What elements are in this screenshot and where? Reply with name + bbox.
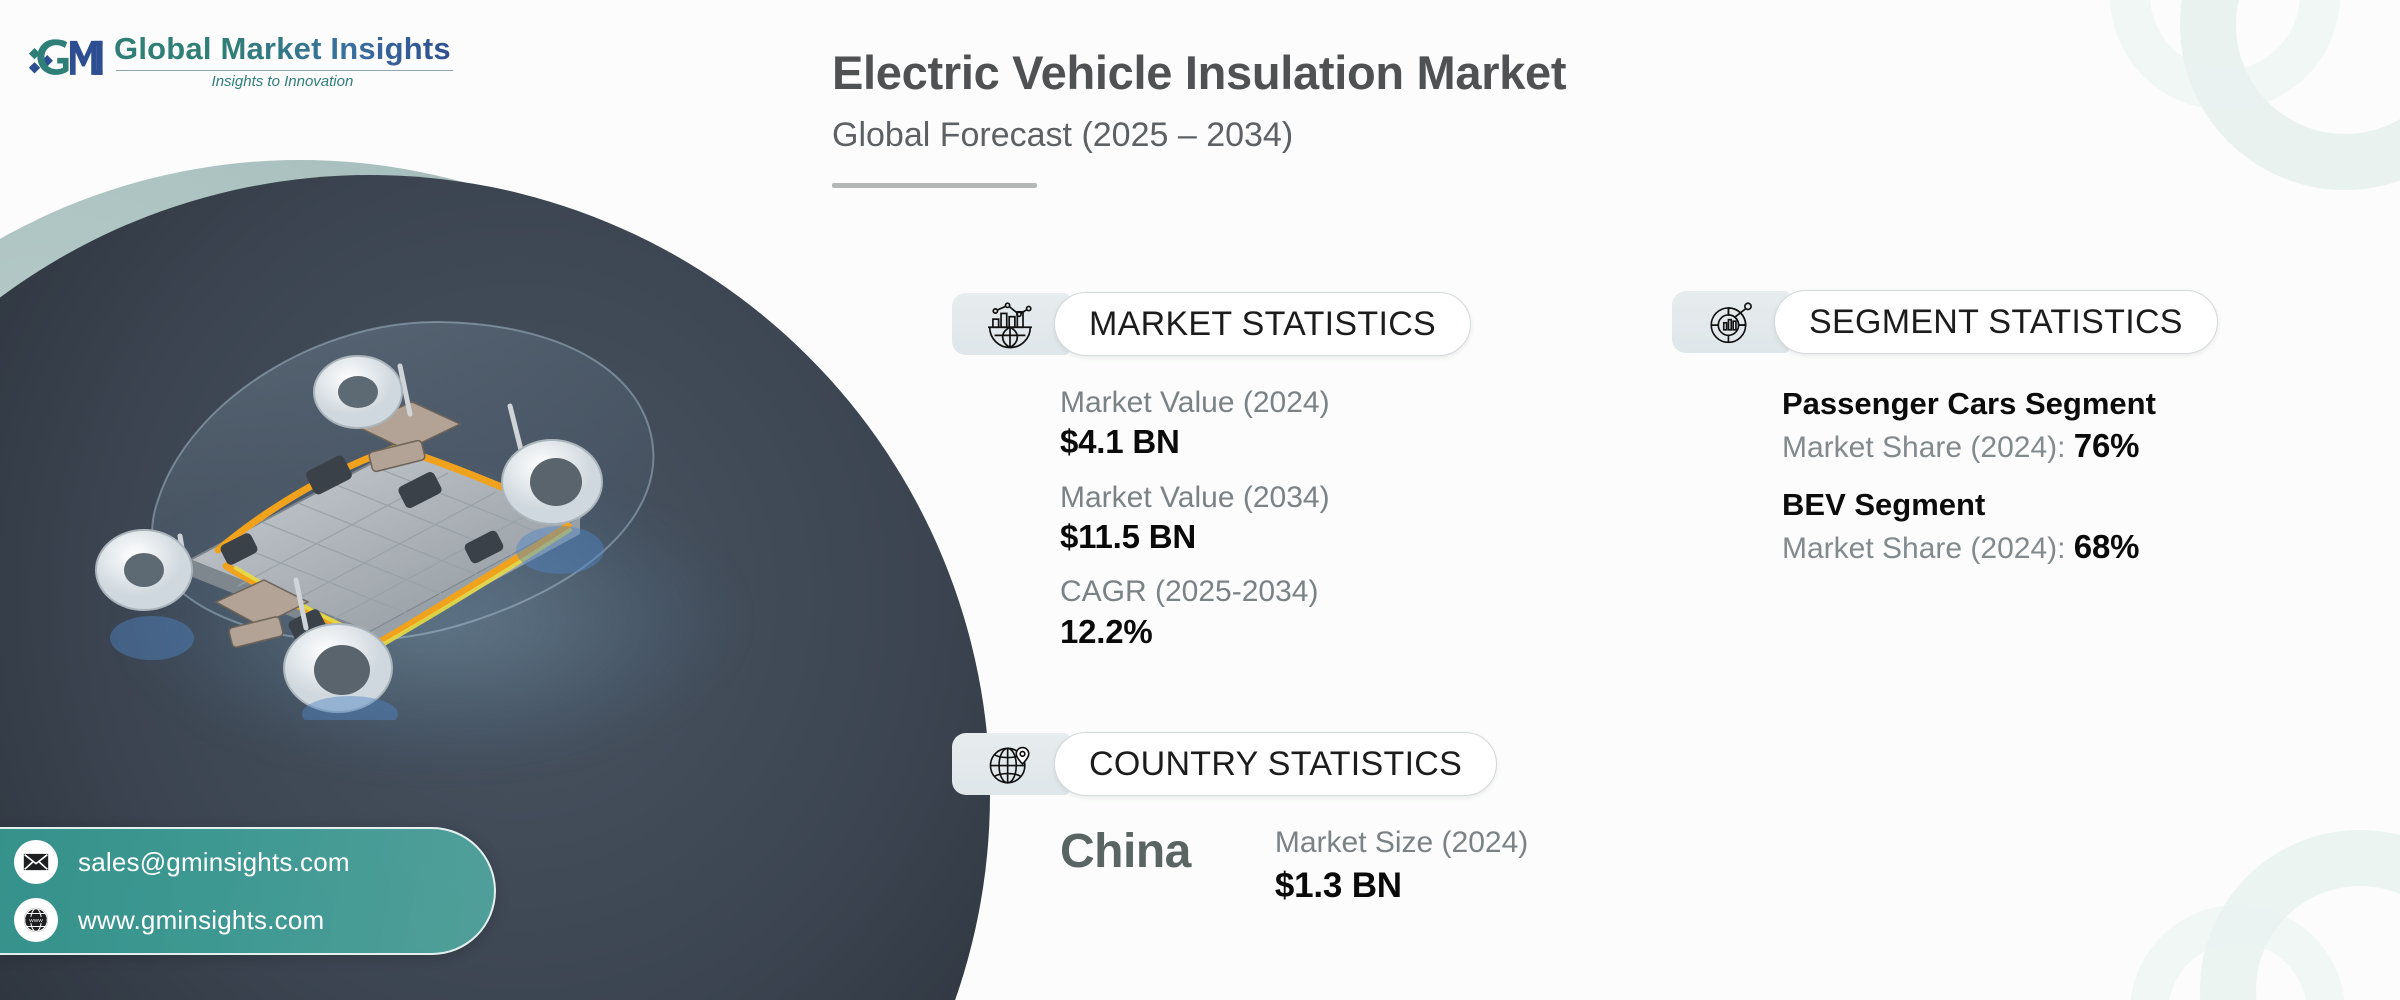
segment-statistics-label: SEGMENT STATISTICS bbox=[1809, 303, 2183, 342]
country-market-size-label: Market Size (2024) bbox=[1275, 824, 1528, 862]
decorative-ring-top-outer bbox=[2180, 0, 2400, 190]
segment-statistics-rows: Passenger Cars Segment Market Share (202… bbox=[1782, 384, 2218, 570]
ev-chassis-illustration bbox=[40, 250, 720, 720]
passenger-cars-share-label: Market Share (2024): bbox=[1782, 431, 2074, 464]
decorative-ring-bottom-outer bbox=[2200, 830, 2400, 1000]
bev-share-label: Market Share (2024): bbox=[1782, 532, 2074, 565]
bev-segment-heading: BEV Segment bbox=[1782, 485, 2218, 525]
cagr-value: 12.2% bbox=[1060, 612, 1471, 652]
svg-text:WWW: WWW bbox=[29, 918, 43, 924]
contact-email-row[interactable]: sales@gminsights.com bbox=[14, 840, 494, 884]
market-value-2024-label: Market Value (2024) bbox=[1060, 384, 1471, 422]
header: Electric Vehicle Insulation Market Globa… bbox=[832, 45, 1566, 188]
logo-tagline: Insights to Innovation bbox=[114, 73, 451, 90]
passenger-cars-segment-heading: Passenger Cars Segment bbox=[1782, 384, 2218, 424]
market-statistics-label: MARKET STATISTICS bbox=[1089, 305, 1436, 344]
country-statistics-pill[interactable]: COUNTRY STATISTICS bbox=[1054, 732, 1497, 796]
market-statistics-badge: MARKET STATISTICS bbox=[952, 290, 1471, 358]
decorative-ring-top-inner bbox=[2110, 0, 2340, 110]
contact-box: sales@gminsights.com WWW www.gminsights.… bbox=[0, 827, 496, 955]
country-statistics-label: COUNTRY STATISTICS bbox=[1089, 745, 1462, 784]
contact-email: sales@gminsights.com bbox=[78, 847, 350, 878]
logo-divider bbox=[116, 70, 453, 71]
contact-website: www.gminsights.com bbox=[78, 905, 324, 936]
contact-website-row[interactable]: WWW www.gminsights.com bbox=[14, 898, 494, 942]
cagr-label: CAGR (2025-2034) bbox=[1060, 573, 1471, 611]
page-title: Electric Vehicle Insulation Market bbox=[832, 45, 1566, 100]
market-value-2034-label: Market Value (2034) bbox=[1060, 479, 1471, 517]
page-subtitle: Global Forecast (2025 – 2034) bbox=[832, 116, 1566, 155]
title-underline bbox=[832, 183, 1037, 188]
country-market-size: Market Size (2024) $1.3 BN bbox=[1275, 824, 1528, 908]
country-statistics-badge: COUNTRY STATISTICS bbox=[952, 730, 1497, 798]
market-statistics-block: MARKET STATISTICS Market Value (2024) $4… bbox=[952, 290, 1471, 652]
country-statistics-rows: China Market Size (2024) $1.3 BN bbox=[1060, 824, 1528, 908]
segment-statistics-block: SEGMENT STATISTICS Passenger Cars Segmen… bbox=[1672, 288, 2218, 570]
country-statistics-block: COUNTRY STATISTICS China Market Size (20… bbox=[952, 730, 1528, 908]
globe-bar-chart-icon bbox=[974, 294, 1046, 354]
gmi-logo: Global Market Insights Insights to Innov… bbox=[26, 28, 451, 92]
bev-share-row: Market Share (2024): 68% bbox=[1782, 525, 2218, 570]
www-globe-icon: WWW bbox=[14, 898, 58, 942]
segment-statistics-pill[interactable]: SEGMENT STATISTICS bbox=[1774, 290, 2218, 354]
bev-share-value: 68% bbox=[2074, 528, 2139, 565]
segment-statistics-badge: SEGMENT STATISTICS bbox=[1672, 288, 2218, 356]
market-statistics-rows: Market Value (2024) $4.1 BN Market Value… bbox=[1060, 384, 1471, 652]
market-value-2034-value: $11.5 BN bbox=[1060, 517, 1471, 557]
donut-chart-icon bbox=[1694, 292, 1766, 352]
country-name: China bbox=[1060, 824, 1191, 879]
gmi-logo-mark-icon bbox=[26, 28, 104, 92]
market-statistics-pill[interactable]: MARKET STATISTICS bbox=[1054, 292, 1471, 356]
passenger-cars-share-value: 76% bbox=[2074, 427, 2139, 464]
country-market-size-value: $1.3 BN bbox=[1275, 865, 1528, 908]
globe-pin-icon bbox=[974, 734, 1046, 794]
logo-company-name: Global Market Insights bbox=[114, 31, 451, 67]
market-value-2024-value: $4.1 BN bbox=[1060, 422, 1471, 462]
envelope-icon bbox=[14, 840, 58, 884]
passenger-cars-share-row: Market Share (2024): 76% bbox=[1782, 424, 2218, 469]
decorative-ring-bottom-inner bbox=[2130, 905, 2345, 1000]
